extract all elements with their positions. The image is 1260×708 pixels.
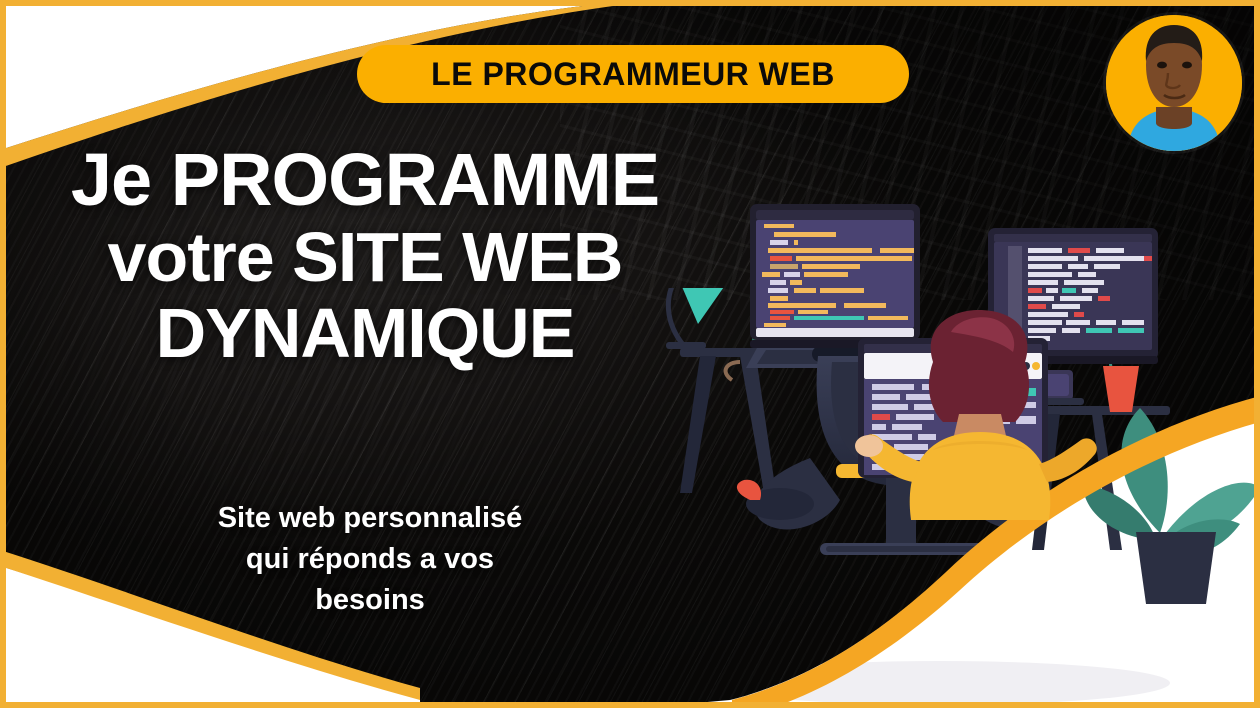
- shirt: [910, 432, 1051, 520]
- floor-shadow: [710, 661, 1170, 705]
- brand-badge[interactable]: LE PROGRAMMEUR WEB: [357, 45, 909, 103]
- developer-figure: [855, 310, 1105, 540]
- headline-line-1: Je PROGRAMME: [0, 140, 730, 220]
- avatar-eye-left: [1157, 62, 1167, 69]
- brand-badge-label: LE PROGRAMMEUR WEB: [431, 56, 835, 93]
- right-arm: [1039, 438, 1097, 482]
- headline-line-2: votre SITE WEB: [0, 220, 730, 296]
- avatar-eye-right: [1182, 62, 1192, 69]
- subheadline-block: Site web personnalisé qui réponds a vos …: [0, 498, 740, 622]
- avatar-portrait: [1106, 15, 1242, 151]
- left-hand: [855, 435, 883, 457]
- promo-poster: LE PROGRAMMEUR WEB Je PROGRAMME votre SI…: [0, 0, 1260, 708]
- headline-line-3: DYNAMIQUE: [0, 296, 730, 372]
- subheadline-line-3: besoins: [0, 580, 740, 621]
- headline-block: Je PROGRAMME votre SITE WEB DYNAMIQUE: [0, 140, 730, 371]
- avatar-neck: [1156, 107, 1192, 129]
- subheadline-line-2: qui réponds a vos: [0, 539, 740, 580]
- avatar[interactable]: [1106, 15, 1242, 151]
- subheadline-line-1: Site web personnalisé: [0, 498, 740, 539]
